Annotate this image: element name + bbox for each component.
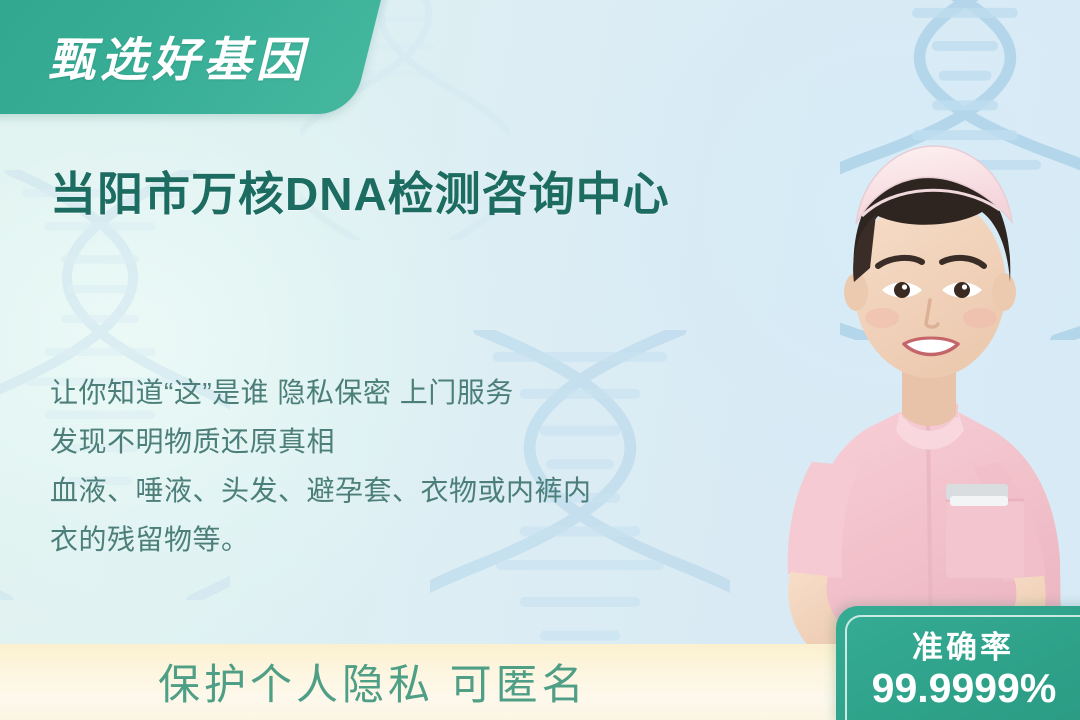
description-line-3: 血液、唾液、头发、避孕套、衣物或内裤内 [50, 466, 750, 515]
brand-logo-text: 甄选好基因 [48, 21, 308, 90]
privacy-tagline: 保护个人隐私 可匿名 [158, 651, 588, 712]
description-line-1: 让你知道“这”是谁 隐私保密 上门服务 [50, 368, 750, 417]
description-line-2: 发现不明物质还原真相 [50, 417, 750, 466]
accuracy-badge: 准确率 99.9999% [836, 606, 1080, 720]
brand-logo-tab: 甄选好基因 [0, 0, 387, 114]
description-block: 让你知道“这”是谁 隐私保密 上门服务 发现不明物质还原真相 血液、唾液、头发、… [50, 368, 750, 564]
description-line-4: 衣的残留物等。 [50, 515, 750, 564]
accuracy-badge-label: 准确率 [836, 622, 1080, 667]
page-title: 当阳市万核DNA检测咨询中心 [50, 158, 670, 224]
dna-testing-promo-banner: 甄选好基因 当阳市万核DNA检测咨询中心 让你知道“这”是谁 隐私保密 上门服务… [0, 0, 1080, 720]
accuracy-badge-value: 99.9999% [836, 665, 1080, 712]
